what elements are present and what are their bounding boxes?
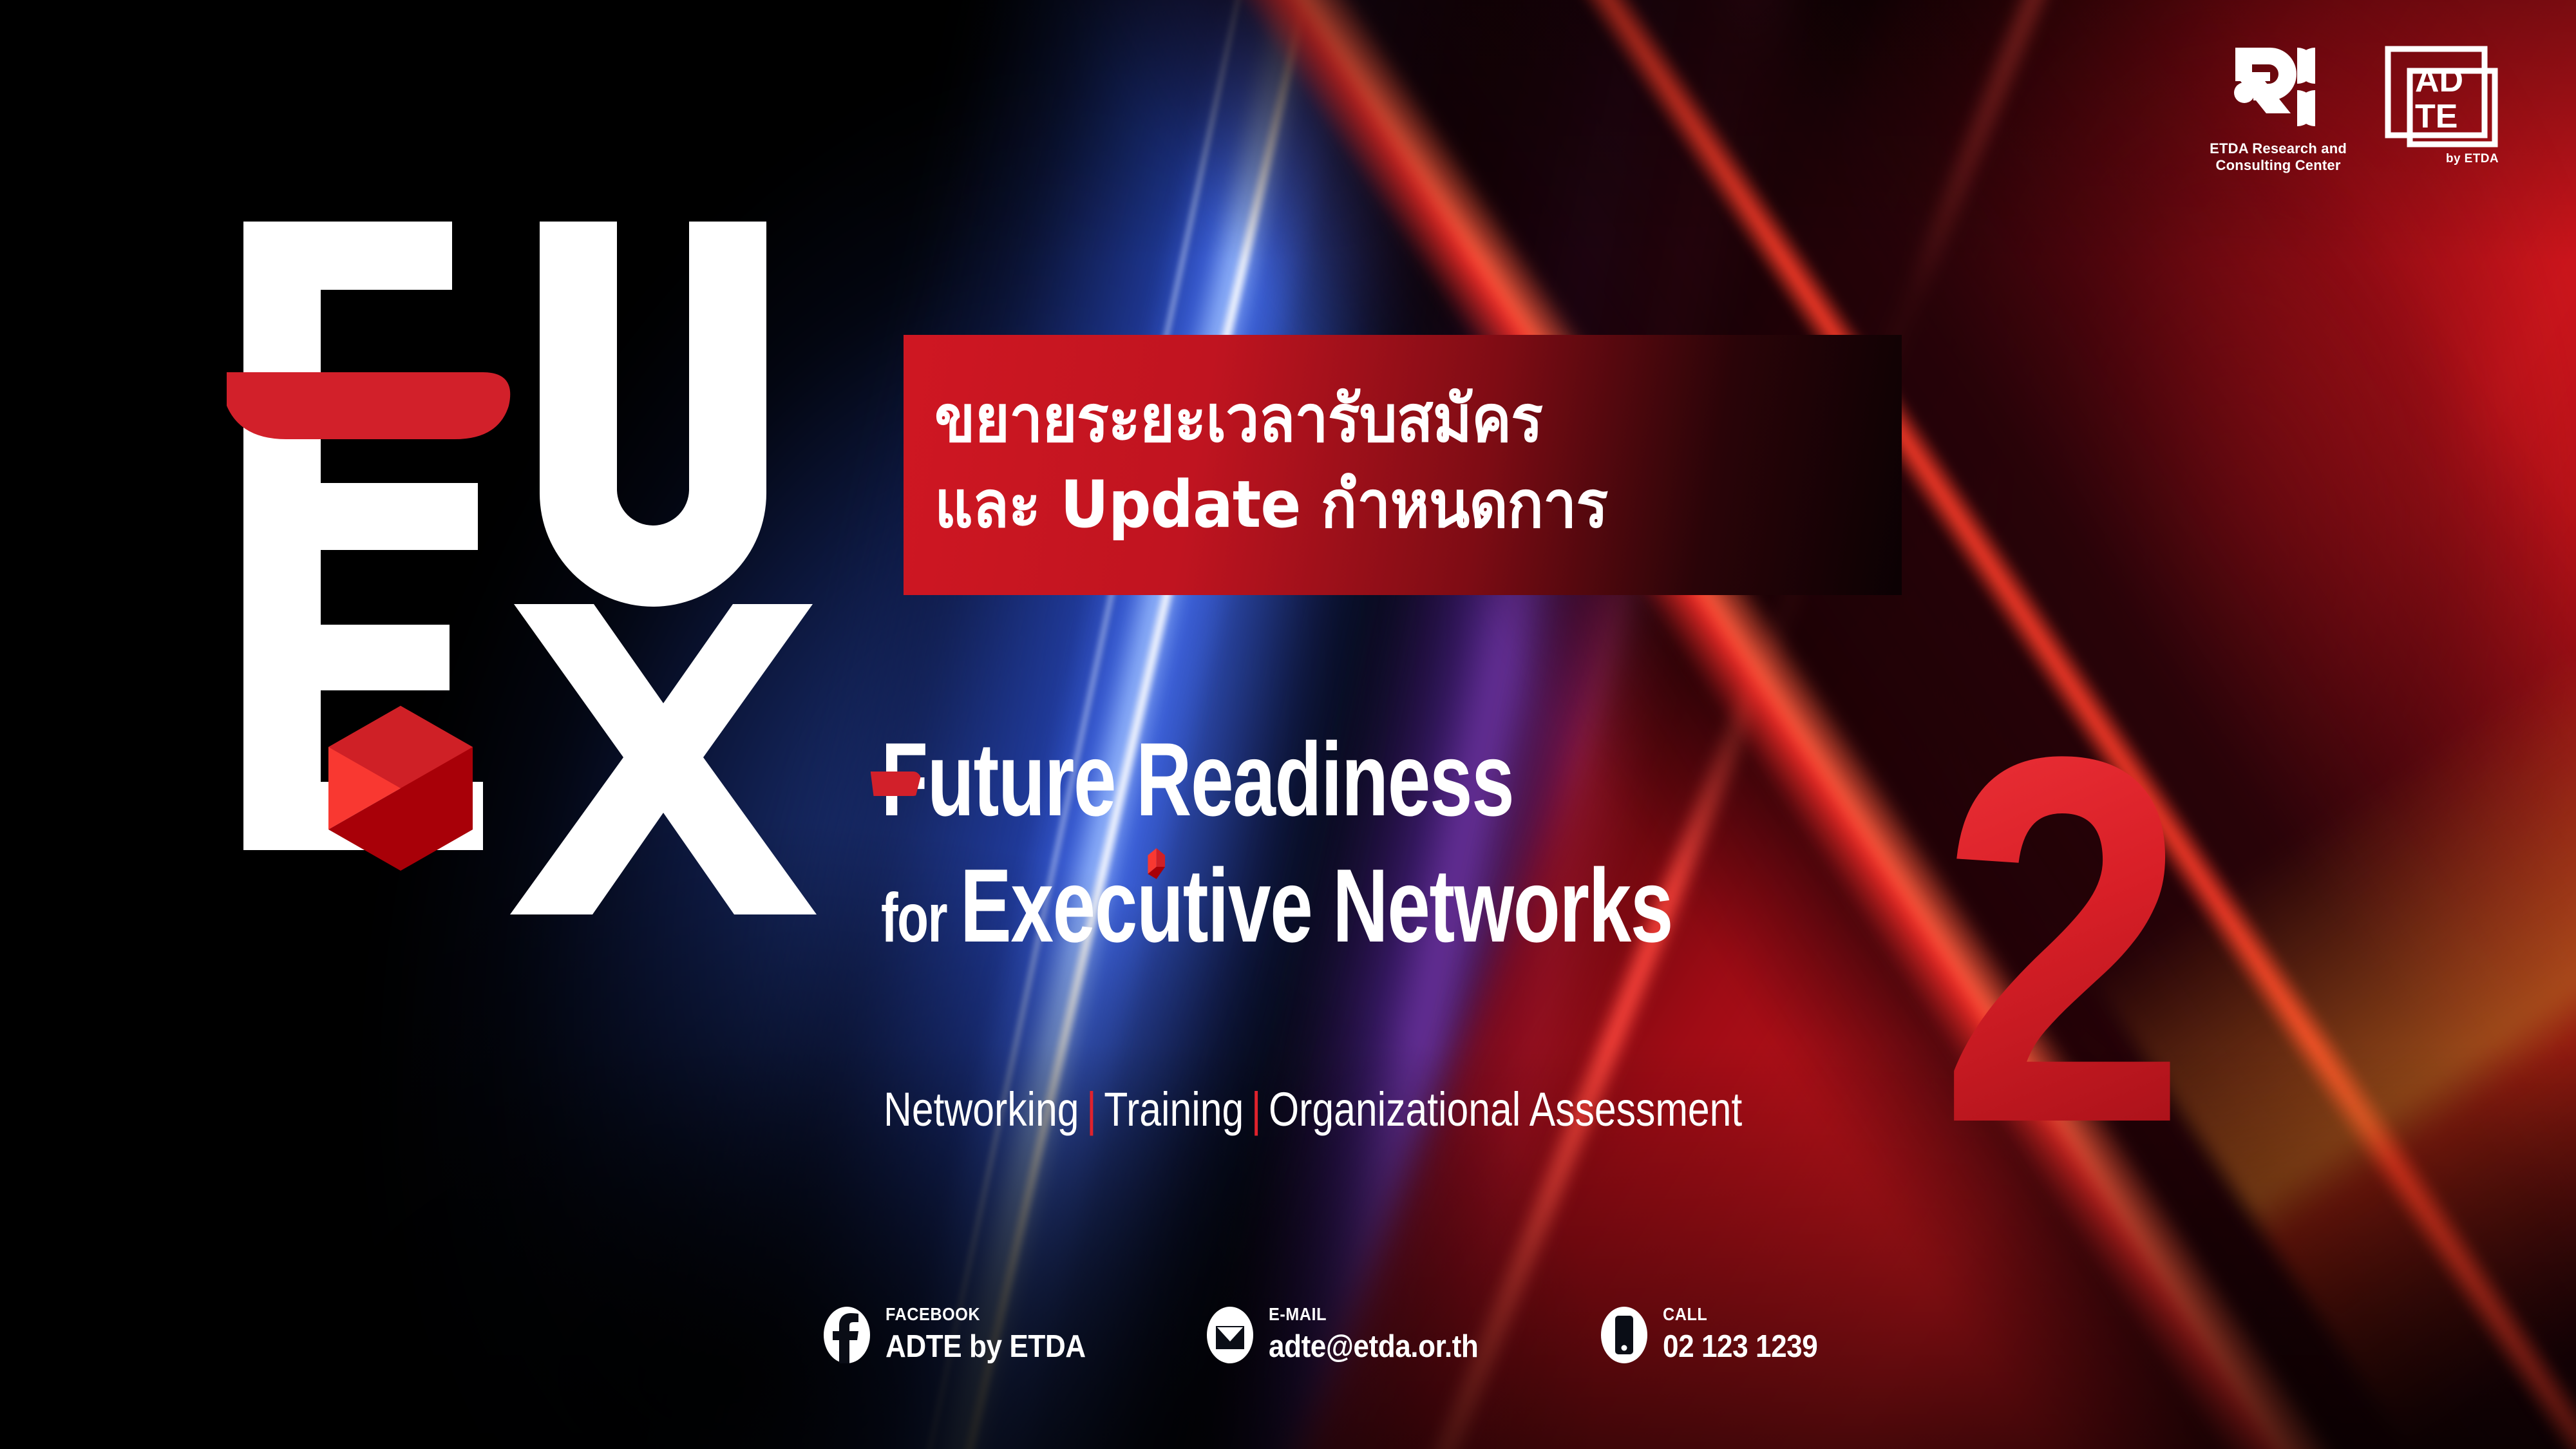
- adte-caption: by ETDA: [2446, 152, 2499, 166]
- facebook-icon[interactable]: [821, 1304, 873, 1366]
- adte-mark-icon: AD TE: [2384, 45, 2499, 148]
- svg-text:TE: TE: [2415, 98, 2458, 135]
- contact-bar: FACEBOOK ADTE by ETDA E-MAIL adte@etda.o…: [821, 1304, 1835, 1366]
- email-icon[interactable]: [1204, 1304, 1256, 1366]
- title-accent-cube-icon: [1146, 845, 1167, 882]
- adte-logo: AD TE by ETDA: [2384, 45, 2499, 166]
- etda-rcc-caption: ETDA Research and Consulting Center: [2210, 140, 2347, 173]
- subtitle-item-networking: Networking: [884, 1083, 1079, 1136]
- event-title-line-1: Future Readiness: [881, 728, 1953, 832]
- promo-banner-poster: ETDA Research and Consulting Center AD T…: [0, 0, 2576, 1449]
- fuex-letter-x: [510, 604, 817, 914]
- contact-phone[interactable]: CALL 02 123 1239: [1598, 1304, 1835, 1366]
- announcement-line-2: และ Update กำหนดการ: [934, 462, 1824, 547]
- event-subtitle: Networking|Training|Organizational Asses…: [884, 1082, 1742, 1137]
- title-accent-slash-icon: [871, 772, 922, 796]
- contact-facebook-value: ADTE by ETDA: [885, 1329, 1086, 1365]
- fuex-accent-slash: [227, 372, 510, 439]
- contact-email[interactable]: E-MAIL adte@etda.or.th: [1204, 1304, 1502, 1366]
- contact-email-value: adte@etda.or.th: [1269, 1329, 1478, 1365]
- event-title-for-word: for: [881, 878, 960, 956]
- fuex-letter-u: [540, 222, 766, 607]
- contact-facebook[interactable]: FACEBOOK ADTE by ETDA: [821, 1304, 1108, 1366]
- subtitle-item-assessment: Organizational Assessment: [1269, 1083, 1742, 1136]
- announcement-banner: ขยายระยะเวลารับสมัคร และ Update กำหนดการ: [904, 335, 1902, 595]
- partner-logo-group: ETDA Research and Consulting Center AD T…: [2210, 45, 2499, 173]
- etda-rcc-logo: ETDA Research and Consulting Center: [2210, 45, 2347, 173]
- event-title-line-2: for Executive Networks: [881, 854, 1953, 958]
- contact-facebook-label: FACEBOOK: [885, 1305, 1086, 1323]
- announcement-line-1: ขยายระยะเวลารับสมัคร: [934, 376, 1824, 462]
- subtitle-separator-2: |: [1251, 1083, 1262, 1136]
- subtitle-separator-1: |: [1086, 1083, 1097, 1136]
- svg-text:AD: AD: [2415, 62, 2463, 99]
- phone-icon[interactable]: [1598, 1304, 1650, 1366]
- etda-rcc-mark-icon: [2230, 45, 2327, 135]
- fuex-brand-logo: [225, 213, 792, 934]
- event-title-line-1-text: Future Readiness: [881, 721, 1513, 838]
- event-title-line-2-text: Executive Networks: [960, 848, 1672, 964]
- event-title-block: Future Readiness for Executive Networks: [881, 728, 2330, 958]
- subtitle-item-training: Training: [1104, 1083, 1244, 1136]
- contact-phone-label: CALL: [1663, 1305, 1817, 1323]
- contact-email-label: E-MAIL: [1269, 1305, 1478, 1323]
- contact-phone-value: 02 123 1239: [1663, 1329, 1817, 1365]
